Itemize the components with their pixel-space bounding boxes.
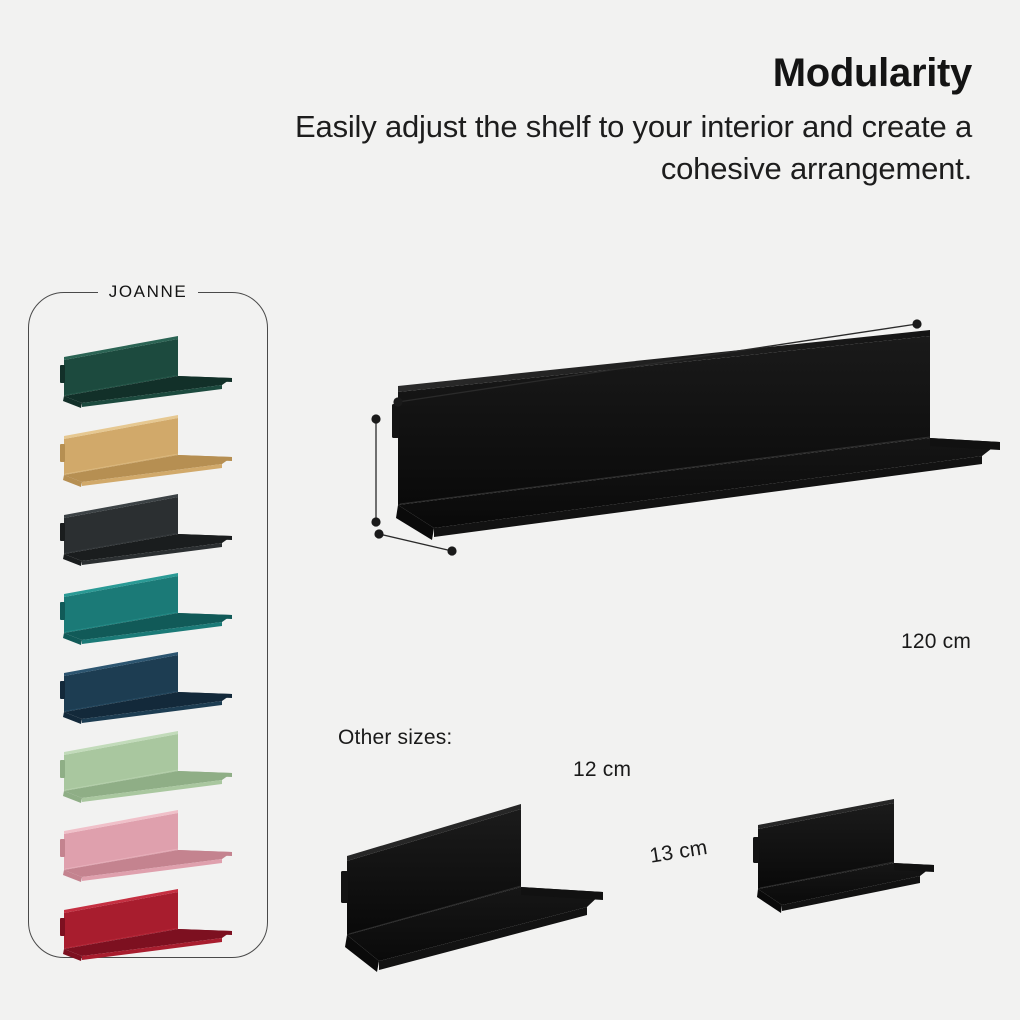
infographic-canvas: Modularity Easily adjust the shelf to yo… [0, 0, 1020, 1020]
color-swatch-red[interactable] [56, 887, 246, 957]
swatch-shelf-illustration [56, 571, 246, 641]
other-sizes-label: Other sizes: [338, 726, 452, 750]
color-swatch-charcoal[interactable] [56, 492, 246, 562]
swatch-shelf-illustration [56, 334, 246, 404]
page-subtitle: Easily adjust the shelf to your interior… [232, 106, 972, 189]
swatch-shelf-illustration [56, 650, 246, 720]
medium-shelf-product [335, 795, 625, 965]
swatch-shelf-illustration [56, 413, 246, 483]
color-swatch-mustard[interactable] [56, 413, 246, 483]
main-shelf-product [370, 330, 1000, 545]
page-title: Modularity [232, 52, 972, 94]
medium-shelf-illustration [335, 795, 625, 965]
swatch-shelf-illustration [56, 808, 246, 878]
main-shelf-illustration [370, 330, 1000, 545]
color-swatch-pink[interactable] [56, 808, 246, 878]
dimension-label-height: 12 cm [573, 758, 631, 782]
swatch-shelf-illustration [56, 492, 246, 562]
header-block: Modularity Easily adjust the shelf to yo… [232, 52, 972, 189]
small-shelf-product [748, 795, 943, 910]
swatch-shelf-illustration [56, 887, 246, 957]
swatch-shelf-illustration [56, 729, 246, 799]
dimension-label-length: 120 cm [901, 630, 971, 654]
color-swatch-dark-green[interactable] [56, 334, 246, 404]
color-swatch-navy-blue[interactable] [56, 650, 246, 720]
dimension-label-depth: 13 cm [648, 836, 709, 869]
small-shelf-illustration [748, 795, 943, 910]
color-swatch-light-green[interactable] [56, 729, 246, 799]
color-swatch-list [28, 292, 268, 958]
color-swatch-teal[interactable] [56, 571, 246, 641]
